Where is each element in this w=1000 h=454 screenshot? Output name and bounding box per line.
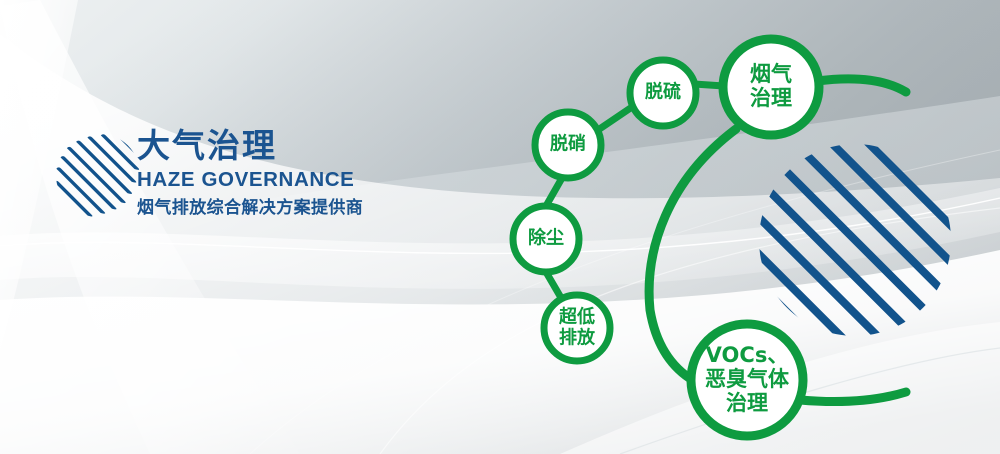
- background-artwork: [0, 0, 1000, 454]
- page-title: 大气治理: [137, 129, 467, 162]
- banner-root: 大气治理 HAZE GOVERNANCE 烟气排放综合解决方案提供商 脱硫 脱硝…: [0, 0, 1000, 454]
- brand-block: 大气治理 HAZE GOVERNANCE 烟气排放综合解决方案提供商: [137, 129, 467, 217]
- page-subtitle-en: HAZE GOVERNANCE: [137, 170, 467, 191]
- page-tagline: 烟气排放综合解决方案提供商: [137, 200, 467, 217]
